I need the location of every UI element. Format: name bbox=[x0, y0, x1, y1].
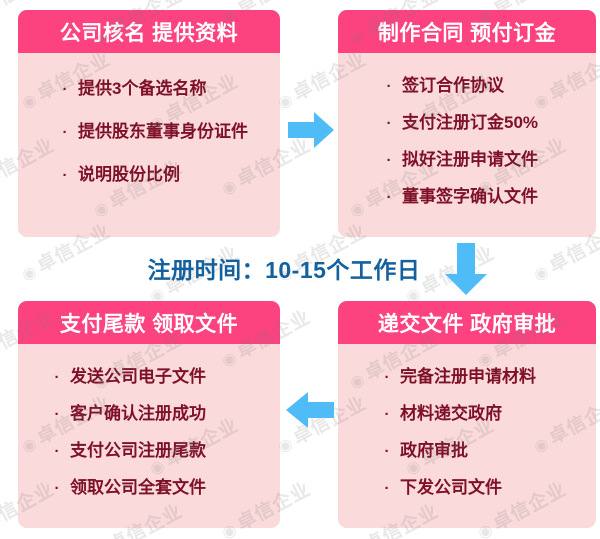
list-item-label: 拟好注册申请文件 bbox=[402, 145, 596, 170]
list-item-label: 董事签字确认文件 bbox=[402, 182, 596, 207]
list-item-label: 领取公司全套文件 bbox=[70, 473, 280, 498]
duration-banner: 注册时间：10-15个工作日 bbox=[0, 246, 600, 290]
list-item: · 材料递交政府 bbox=[374, 393, 596, 430]
list-item-label: 签订合作协议 bbox=[402, 71, 596, 96]
list-item: · 完备注册申请材料 bbox=[374, 356, 596, 393]
bullet-dot-icon: · bbox=[52, 124, 78, 141]
bullet-dot-icon: · bbox=[374, 369, 400, 386]
list-item: · 提供3个备选名称 bbox=[52, 65, 280, 108]
list-item: · 说明股份比例 bbox=[52, 151, 280, 194]
step-4-bullet-list: · 完备注册申请材料 · 材料递交政府 · 政府审批 · 下发公司文件 bbox=[338, 356, 596, 504]
step-4-title: 递交文件 政府审批 bbox=[338, 301, 596, 344]
list-item-label: 材料递交政府 bbox=[400, 399, 596, 424]
list-item: · 拟好注册申请文件 bbox=[376, 139, 596, 176]
step-card-4: 递交文件 政府审批 · 完备注册申请材料 · 材料递交政府 · 政府审批 · 下… bbox=[338, 301, 596, 528]
list-item-label: 支付公司注册尾款 bbox=[70, 436, 280, 461]
step-1-title: 公司核名 提供资料 bbox=[18, 10, 280, 53]
list-item: · 支付公司注册尾款 bbox=[44, 430, 280, 467]
list-item: · 领取公司全套文件 bbox=[44, 467, 280, 504]
list-item: · 提供股东董事身份证件 bbox=[52, 108, 280, 151]
bullet-dot-icon: · bbox=[374, 443, 400, 460]
step-card-2: 制作合同 预付订金 · 签订合作协议 · 支付注册订金50% · 拟好注册申请文… bbox=[338, 10, 596, 237]
list-item: · 签订合作协议 bbox=[376, 65, 596, 102]
list-item-label: 客户确认注册成功 bbox=[70, 399, 280, 424]
bullet-dot-icon: · bbox=[376, 78, 402, 95]
step-3-bullet-list: · 发送公司电子文件 · 客户确认注册成功 · 支付公司注册尾款 · 领取公司全… bbox=[18, 356, 280, 504]
bullet-dot-icon: · bbox=[374, 480, 400, 497]
flowchart-canvas: 公司核名 提供资料 · 提供3个备选名称 · 提供股东董事身份证件 · 说明股份… bbox=[0, 0, 600, 539]
step-2-bullet-list: · 签订合作协议 · 支付注册订金50% · 拟好注册申请文件 · 董事签字确认… bbox=[338, 65, 596, 213]
bullet-dot-icon: · bbox=[374, 406, 400, 423]
list-item: · 发送公司电子文件 bbox=[44, 356, 280, 393]
duration-label: 注册时间：10-15个工作日 bbox=[148, 251, 421, 285]
step-card-1: 公司核名 提供资料 · 提供3个备选名称 · 提供股东董事身份证件 · 说明股份… bbox=[18, 10, 280, 237]
step-card-3: 支付尾款 领取文件 · 发送公司电子文件 · 客户确认注册成功 · 支付公司注册… bbox=[18, 301, 280, 528]
step-1-bullet-list: · 提供3个备选名称 · 提供股东董事身份证件 · 说明股份比例 bbox=[18, 65, 280, 194]
bullet-dot-icon: · bbox=[44, 369, 70, 386]
step-2-title: 制作合同 预付订金 bbox=[338, 10, 596, 53]
step-2-body: · 签订合作协议 · 支付注册订金50% · 拟好注册申请文件 · 董事签字确认… bbox=[338, 53, 596, 223]
list-item-label: 完备注册申请材料 bbox=[400, 362, 596, 387]
list-item-label: 支付注册订金50% bbox=[402, 108, 596, 133]
step-3-body: · 发送公司电子文件 · 客户确认注册成功 · 支付公司注册尾款 · 领取公司全… bbox=[18, 344, 280, 514]
list-item: · 下发公司文件 bbox=[374, 467, 596, 504]
arrow-left-icon bbox=[286, 390, 334, 430]
list-item-label: 提供股东董事身份证件 bbox=[78, 117, 280, 142]
bullet-dot-icon: · bbox=[52, 81, 78, 98]
list-item-label: 说明股份比例 bbox=[78, 160, 280, 185]
bullet-dot-icon: · bbox=[52, 167, 78, 184]
list-item-label: 政府审批 bbox=[400, 436, 596, 461]
bullet-dot-icon: · bbox=[376, 189, 402, 206]
list-item: · 政府审批 bbox=[374, 430, 596, 467]
list-item-label: 提供3个备选名称 bbox=[78, 74, 280, 99]
step-1-body: · 提供3个备选名称 · 提供股东董事身份证件 · 说明股份比例 bbox=[18, 53, 280, 204]
step-4-body: · 完备注册申请材料 · 材料递交政府 · 政府审批 · 下发公司文件 bbox=[338, 344, 596, 514]
bullet-dot-icon: · bbox=[44, 406, 70, 423]
list-item: · 董事签字确认文件 bbox=[376, 176, 596, 213]
list-item-label: 发送公司电子文件 bbox=[70, 362, 280, 387]
arrow-right-icon bbox=[288, 110, 334, 150]
bullet-dot-icon: · bbox=[376, 115, 402, 132]
list-item-label: 下发公司文件 bbox=[400, 473, 596, 498]
step-3-title: 支付尾款 领取文件 bbox=[18, 301, 280, 344]
list-item: · 客户确认注册成功 bbox=[44, 393, 280, 430]
bullet-dot-icon: · bbox=[44, 480, 70, 497]
bullet-dot-icon: · bbox=[44, 443, 70, 460]
bullet-dot-icon: · bbox=[376, 152, 402, 169]
list-item: · 支付注册订金50% bbox=[376, 102, 596, 139]
